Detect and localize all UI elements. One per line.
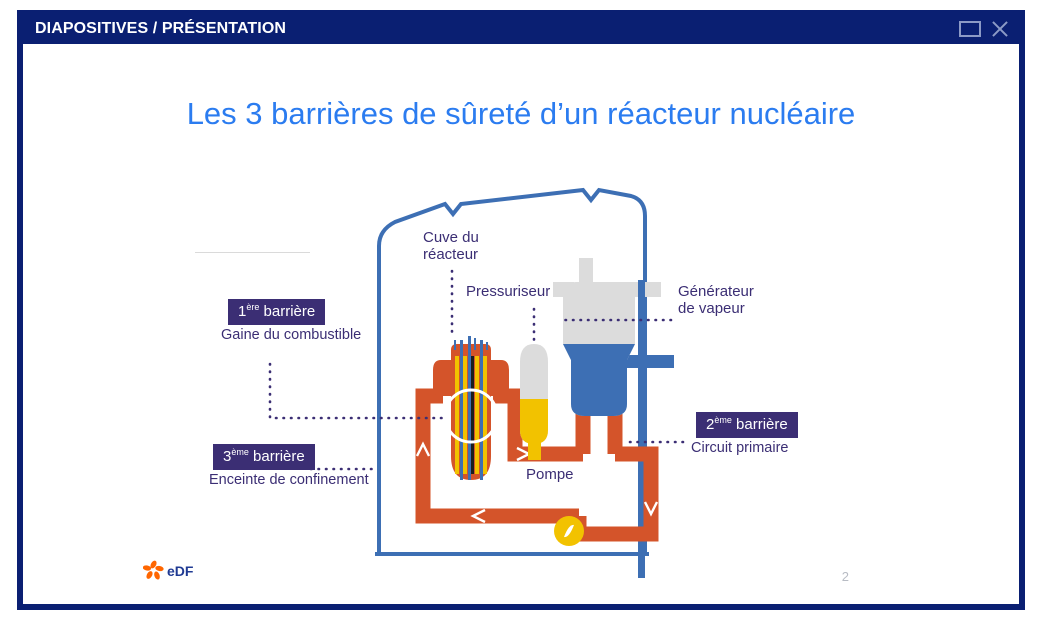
badge-barrier-2-word: barrière (736, 416, 788, 433)
badge-barrier-2-ordinal: ème (714, 415, 732, 425)
presentation-window: DIAPOSITIVES / PRÉSENTATION Les 3 barriè… (17, 10, 1025, 610)
steam-generator (563, 258, 635, 416)
screenshot-root: DIAPOSITIVES / PRÉSENTATION Les 3 barriè… (0, 0, 1042, 631)
pressurizer-surge-nozzle (528, 440, 541, 460)
pressurizer (520, 344, 548, 460)
edf-logo-text: eDF (167, 563, 194, 579)
barrier-3-description: Enceinte de confinement (209, 472, 369, 488)
window-titlebar: DIAPOSITIVES / PRÉSENTATION (23, 16, 1019, 44)
badge-barrier-1[interactable]: 1ère barrière (228, 299, 325, 325)
label-steam-generator: Générateur de vapeur (678, 284, 754, 318)
label-pressurizer: Pressuriseur (466, 284, 550, 301)
badge-barrier-3[interactable]: 3ème barrière (213, 444, 315, 470)
steam-riser (579, 258, 593, 286)
label-reactor-vessel-line1: Cuve du (423, 230, 479, 247)
barrier-2-description: Circuit primaire (691, 440, 789, 456)
control-rod (460, 340, 463, 480)
window-title: DIAPOSITIVES / PRÉSENTATION (35, 20, 286, 38)
restore-window-icon[interactable] (959, 21, 981, 37)
steam-generator-water (563, 344, 635, 416)
badge-barrier-1-ordinal: ère (246, 302, 259, 312)
pressurizer-liquid (520, 399, 548, 444)
control-rod-drive (454, 340, 456, 350)
fuel-rod (463, 356, 467, 474)
label-steam-generator-line1: Générateur (678, 284, 754, 301)
label-pump: Pompe (526, 467, 574, 484)
badge-barrier-1-word: barrière (264, 303, 316, 320)
edf-pinwheel-icon (143, 560, 164, 581)
reactor-vessel (433, 336, 509, 480)
control-rod-drive (486, 342, 488, 350)
label-reactor-vessel-line2: réacteur (423, 247, 479, 264)
label-steam-generator-line2: de vapeur (678, 301, 754, 318)
control-rod (480, 340, 483, 480)
slide-page-number: 2 (842, 569, 849, 584)
pump (554, 516, 584, 546)
fuel-rod (483, 356, 487, 474)
badge-barrier-3-word: barrière (253, 448, 305, 465)
label-reactor-vessel: Cuve du réacteur (423, 230, 479, 264)
fuel-rod (455, 356, 459, 474)
badge-barrier-3-ordinal: ème (231, 447, 249, 457)
edf-logo: eDF (143, 558, 213, 586)
badge-barrier-2[interactable]: 2ème barrière (696, 412, 798, 438)
slide-canvas: Les 3 barrières de sûreté d’un réacteur … (23, 44, 1019, 604)
barrier-1-description: Gaine du combustible (221, 327, 361, 343)
control-rod (468, 336, 471, 480)
control-rod-drive (474, 338, 476, 350)
close-icon[interactable] (989, 18, 1011, 40)
window-controls (959, 18, 1011, 40)
reactor-schematic (23, 44, 1019, 604)
fuel-rod (475, 356, 479, 474)
